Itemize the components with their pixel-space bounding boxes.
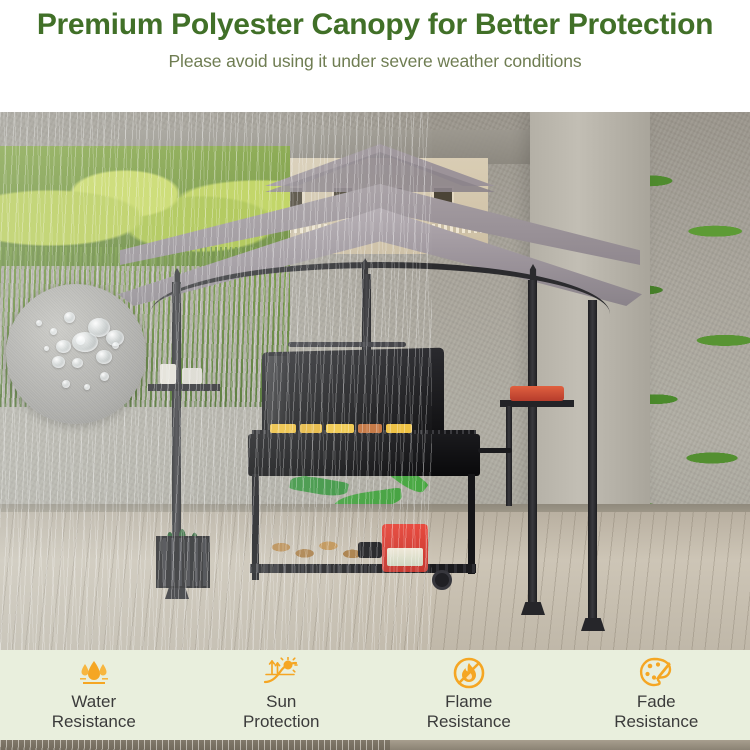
paint-palette-icon — [563, 656, 750, 690]
water-bead — [100, 372, 109, 381]
feature-label-line1: Water — [0, 692, 188, 712]
feature-label: Flame Resistance — [375, 692, 563, 731]
grill-leg — [468, 474, 475, 574]
water-bead — [72, 358, 83, 368]
water-bead — [50, 328, 57, 335]
feature-label-line2: Protection — [188, 712, 376, 732]
feature-label-line1: Sun — [188, 692, 376, 712]
feature-sun-protection[interactable]: Sun Protection — [188, 650, 376, 731]
feature-label-line1: Fade — [563, 692, 750, 712]
product-photo — [0, 112, 750, 650]
water-bead — [84, 384, 90, 390]
water-bead — [62, 380, 70, 388]
fabric-texture — [6, 284, 146, 424]
feature-badges-bar: Water Resistance — [0, 650, 750, 740]
bottom-deck-strip-rain-side — [0, 740, 390, 750]
product-feature-image: Premium Polyester Canopy for Better Prot… — [0, 0, 750, 750]
sun-protection-icon — [188, 656, 376, 690]
feature-label: Sun Protection — [188, 692, 376, 731]
feature-label-line2: Resistance — [563, 712, 750, 732]
gazebo-post-right — [528, 280, 537, 614]
feature-flame-resistance[interactable]: Flame Resistance — [375, 650, 563, 731]
water-bead — [72, 332, 98, 352]
water-bead — [44, 346, 49, 351]
feature-fade-resistance[interactable]: Fade Resistance — [563, 650, 750, 731]
raw-meat-on-table — [510, 386, 564, 401]
right-table-leg — [506, 406, 512, 506]
feature-label: Fade Resistance — [563, 692, 750, 731]
feature-label: Water Resistance — [0, 692, 188, 731]
water-bead — [112, 342, 119, 349]
feature-label-line1: Flame — [375, 692, 563, 712]
water-bead — [36, 320, 42, 326]
feature-label-line2: Resistance — [375, 712, 563, 732]
water-bead — [64, 312, 75, 323]
water-bead — [56, 340, 71, 353]
grill-side-handle — [478, 448, 512, 453]
page-subtitle: Please avoid using it under severe weath… — [0, 51, 750, 72]
no-flame-icon — [375, 656, 563, 690]
feature-water-resistance[interactable]: Water Resistance — [0, 650, 188, 731]
water-beading-closeup-inset — [6, 284, 146, 424]
water-bead — [52, 356, 65, 368]
header-banner: Premium Polyester Canopy for Better Prot… — [0, 0, 750, 112]
grill-wheel — [432, 570, 452, 590]
water-drop-icon — [0, 656, 188, 690]
feature-label-line2: Resistance — [0, 712, 188, 732]
water-bead — [96, 350, 112, 364]
page-title: Premium Polyester Canopy for Better Prot… — [0, 8, 750, 42]
gazebo-post-rear-right — [588, 300, 597, 630]
